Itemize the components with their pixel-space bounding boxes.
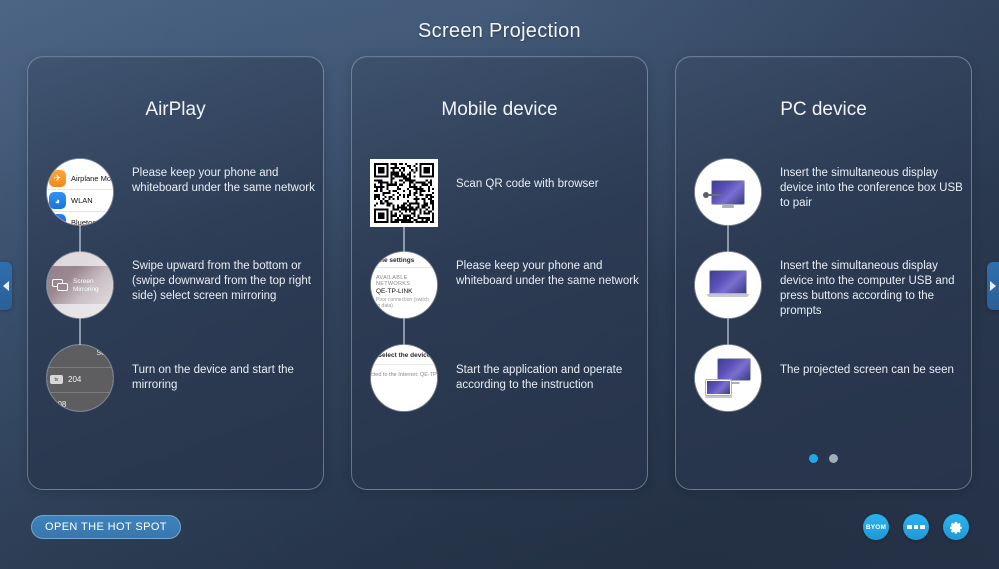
step-icon-wrap xyxy=(676,252,780,319)
apps-button[interactable] xyxy=(903,514,929,540)
settings-head: one settings xyxy=(376,257,414,264)
step-description: Scan QR code with browser xyxy=(456,159,607,227)
step-icon-wrap xyxy=(352,159,456,227)
device-list-title: Scr xyxy=(97,350,108,357)
step-item: Insert the simultaneous display device i… xyxy=(676,252,971,319)
qr-code-icon[interactable] xyxy=(370,159,438,227)
cards-container: AirPlay ✈ Airplane Mode ◕ WLAN xyxy=(27,56,972,490)
step-description: Swipe upward from the bottom or (swipe d… xyxy=(132,252,323,318)
laptop-icon xyxy=(695,252,761,318)
page-title: Screen Projection xyxy=(0,20,999,43)
pagination-dot-2[interactable] xyxy=(829,454,838,463)
step-connector xyxy=(727,318,729,345)
step-icon-wrap: Select the device cted to the Internet: … xyxy=(352,345,456,411)
card-airplay: AirPlay ✈ Airplane Mode ◕ WLAN xyxy=(27,56,324,490)
dual-screen-glyph-icon xyxy=(705,358,751,398)
airplane-icon: ✈ xyxy=(49,170,66,187)
step-icon-wrap: ✈ Airplane Mode ◕ WLAN → Bluetooth xyxy=(28,159,132,225)
toolbar: BYOM xyxy=(863,514,969,540)
network-note: Poor connection (switch to data) xyxy=(376,297,434,309)
chevron-left-icon xyxy=(3,281,9,291)
step-description: Start the application and operate accord… xyxy=(456,345,647,411)
step-icon-wrap xyxy=(676,345,780,411)
select-device-icon: Select the device cted to the Internet: … xyxy=(371,345,437,411)
step-icon-wrap: Scr tv 204 208 xyxy=(28,345,132,411)
prev-page-arrow[interactable] xyxy=(0,262,12,310)
pagination-dot-1[interactable] xyxy=(809,454,818,463)
step-item: The projected screen can be seen xyxy=(676,345,971,411)
steps-mobile: Scan QR code with browser one settings A… xyxy=(352,155,647,490)
select-device-row: cted to the Internet: QE-TP- xyxy=(371,372,437,378)
step-connector xyxy=(79,225,81,252)
available-networks-label: AVAILABLE NETWORKS xyxy=(376,275,437,287)
device-number: 204 xyxy=(68,375,81,384)
cc-label: WLAN xyxy=(71,196,93,205)
open-hotspot-button[interactable]: OPEN THE HOT SPOT xyxy=(31,515,181,539)
mirroring-label: Screen Mirroring xyxy=(73,278,109,294)
network-name: QE-TP-LINK xyxy=(376,288,412,295)
wifi-settings-icon: one settings AVAILABLE NETWORKS QE-TP-LI… xyxy=(371,252,437,318)
gear-icon xyxy=(949,520,963,534)
step-description: Please keep your phone and whiteboard un… xyxy=(132,159,323,225)
byom-icon: BYOM xyxy=(866,524,886,531)
card-title-airplay: AirPlay xyxy=(28,99,323,121)
steps-pc: Insert the simultaneous display device i… xyxy=(676,155,971,490)
device-list-icon: Scr tv 204 208 xyxy=(47,345,113,411)
steps-airplay: ✈ Airplane Mode ◕ WLAN → Bluetooth xyxy=(28,155,323,490)
card-mobile-device: Mobile device Scan QR code with browser … xyxy=(351,56,648,490)
step-description: The projected screen can be seen xyxy=(780,345,962,411)
step-icon-wrap: one settings AVAILABLE NETWORKS QE-TP-LI… xyxy=(352,252,456,318)
step-item: Scan QR code with browser xyxy=(352,159,647,227)
laptop-glyph-icon xyxy=(707,270,749,300)
usb-dongle-icon xyxy=(704,192,721,198)
step-item: ✈ Airplane Mode ◕ WLAN → Bluetooth xyxy=(28,159,323,225)
byom-button[interactable]: BYOM xyxy=(863,514,889,540)
select-device-title: Select the device xyxy=(371,352,437,359)
cc-label: Bluetooth xyxy=(71,218,103,225)
next-page-arrow[interactable] xyxy=(987,262,999,310)
appletv-icon: tv xyxy=(50,375,63,384)
chevron-right-icon xyxy=(990,281,996,291)
control-center-icon: ✈ Airplane Mode ◕ WLAN → Bluetooth xyxy=(47,159,113,225)
step-item: Insert the simultaneous display device i… xyxy=(676,159,971,225)
step-icon-wrap: Screen Mirroring xyxy=(28,252,132,318)
card-title-mobile: Mobile device xyxy=(352,99,647,121)
step-connector xyxy=(79,318,81,345)
step-item: one settings AVAILABLE NETWORKS QE-TP-LI… xyxy=(352,252,647,318)
pagination-dots xyxy=(676,454,971,463)
bluetooth-icon: → xyxy=(49,214,66,225)
mirroring-glyph-icon xyxy=(52,279,69,293)
step-connector xyxy=(403,227,405,254)
step-description: Please keep your phone and whiteboard un… xyxy=(456,252,647,318)
cc-label: Airplane Mode xyxy=(71,174,113,183)
step-item: Scr tv 204 208 Turn on the device and st… xyxy=(28,345,323,411)
grid-icon xyxy=(907,525,925,530)
step-description: Turn on the device and start the mirrori… xyxy=(132,345,323,411)
screen-mirroring-icon: Screen Mirroring xyxy=(47,252,113,318)
step-item: Screen Mirroring Swipe upward from the b… xyxy=(28,252,323,318)
card-pc-device: PC device Insert the simultaneous displa xyxy=(675,56,972,490)
step-item: Select the device cted to the Internet: … xyxy=(352,345,647,411)
step-icon-wrap xyxy=(676,159,780,225)
monitor-dongle-icon xyxy=(695,159,761,225)
device-number: 208 xyxy=(53,400,66,409)
wifi-icon: ◕ xyxy=(49,192,66,209)
card-title-pc: PC device xyxy=(676,99,971,121)
step-connector xyxy=(403,318,405,345)
dual-screen-icon xyxy=(695,345,761,411)
step-description: Insert the simultaneous display device i… xyxy=(780,252,971,319)
step-connector xyxy=(727,225,729,252)
settings-button[interactable] xyxy=(943,514,969,540)
step-description: Insert the simultaneous display device i… xyxy=(780,159,971,225)
